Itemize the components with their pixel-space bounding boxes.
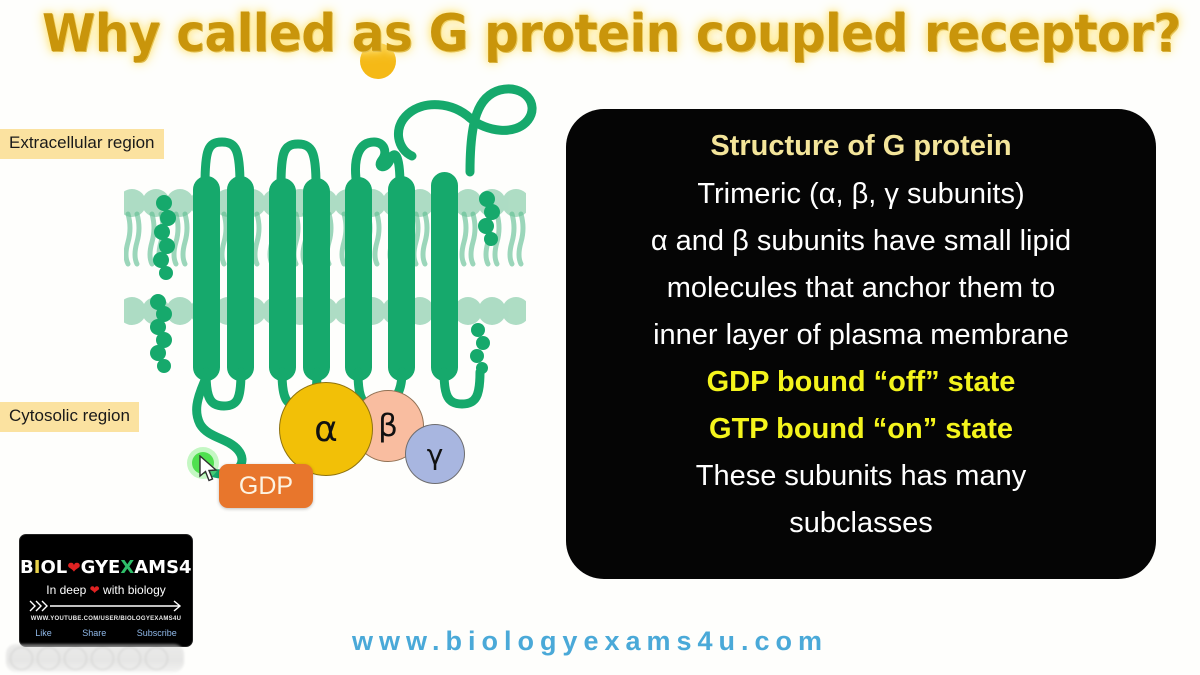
info-panel: Structure of G protein Trimeric (α, β, γ… xyxy=(566,109,1156,579)
arrow-decoration xyxy=(28,598,184,614)
gdp-label: GDP xyxy=(219,464,313,508)
logo-brand-text: BIOL❤GYEXAMS4U xyxy=(20,557,192,578)
dna-helix-icon: X xyxy=(120,557,134,578)
channel-logo[interactable]: BIOL❤GYEXAMS4U In deep ❤ with biology WW… xyxy=(19,534,193,647)
tagline-post: with biology xyxy=(103,583,166,597)
subscribe-link[interactable]: Subscribe xyxy=(137,628,177,638)
like-link[interactable]: Like xyxy=(35,628,52,638)
social-icon-3[interactable] xyxy=(64,647,87,670)
n-terminal-tail xyxy=(398,89,532,172)
social-icon-6[interactable] xyxy=(145,647,168,670)
website-url: www.biologyexams4u.com xyxy=(190,626,990,657)
heart-icon: ❤ xyxy=(67,558,80,577)
info-tail-line-2: subclasses xyxy=(584,500,1138,547)
extracellular-region-label: Extracellular region xyxy=(0,129,164,159)
share-link[interactable]: Share xyxy=(82,628,106,638)
logo-letters-ams4u: AMS4U xyxy=(134,557,193,578)
tm-helix-7 xyxy=(431,172,458,381)
info-line-4: inner layer of plasma membrane xyxy=(584,312,1138,359)
tm-helix-4 xyxy=(303,178,330,381)
mouse-cursor xyxy=(198,455,220,483)
info-line-3: molecules that anchor them to xyxy=(584,265,1138,312)
cytosolic-region-label: Cytosolic region xyxy=(0,402,139,432)
info-tail-line-1: These subunits has many xyxy=(584,453,1138,500)
social-icon-2[interactable] xyxy=(37,647,60,670)
logo-letters-ol: OL xyxy=(40,557,67,578)
info-highlight-gdp: GDP bound “off” state xyxy=(584,359,1138,406)
info-line-1: Trimeric (α, β, γ subunits) xyxy=(584,171,1138,218)
slide-canvas: Why called as G protein coupled receptor… xyxy=(0,0,1200,675)
info-line-2: α and β subunits have small lipid xyxy=(584,218,1138,265)
social-icon-1[interactable] xyxy=(10,647,33,670)
alpha-subunit: α xyxy=(279,382,373,476)
social-icon-5[interactable] xyxy=(118,647,141,670)
info-heading: Structure of G protein xyxy=(584,123,1138,171)
logo-letter-b: B xyxy=(20,557,34,578)
tm-helix-1 xyxy=(193,176,220,381)
logo-tagline: In deep ❤ with biology xyxy=(20,583,192,597)
social-share-bar[interactable] xyxy=(6,644,184,672)
tm-helix-2 xyxy=(227,176,254,381)
heart-icon-small: ❤ xyxy=(90,583,100,597)
logo-url: WWW.YOUTUBE.COM/USER/BIOLOGYEXAMS4U xyxy=(20,616,192,622)
tm-helix-6 xyxy=(388,176,415,381)
gamma-subunit: γ xyxy=(405,424,465,484)
tm-helix-5 xyxy=(345,177,372,381)
social-icon-4[interactable] xyxy=(91,647,114,670)
logo-actions: Like Share Subscribe xyxy=(20,628,192,638)
tagline-pre: In deep xyxy=(46,583,86,597)
gpcr-diagram xyxy=(0,0,570,600)
logo-letters-gye: GYE xyxy=(81,557,121,578)
info-highlight-gtp: GTP bound “on” state xyxy=(584,406,1138,453)
page-title: Why called as G protein coupled receptor… xyxy=(42,4,1158,64)
tm-helix-3 xyxy=(269,178,296,381)
